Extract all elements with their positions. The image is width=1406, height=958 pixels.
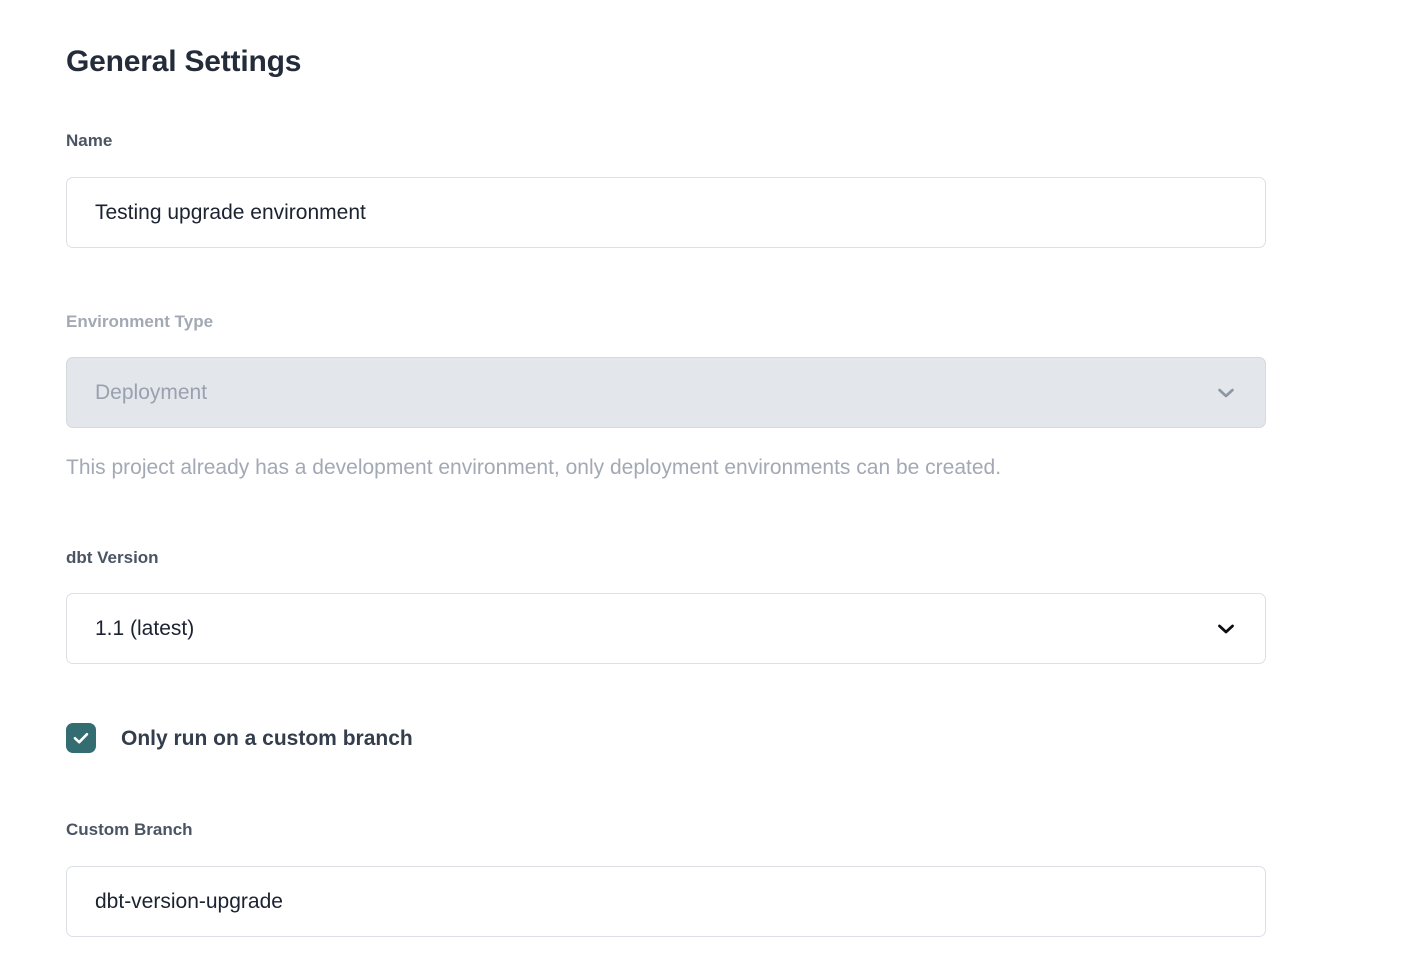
environment-type-select[interactable]: Deployment — [66, 357, 1266, 428]
chevron-down-icon — [1215, 382, 1237, 404]
name-input[interactable] — [66, 177, 1266, 248]
dbt-version-value: 1.1 (latest) — [95, 618, 1215, 639]
dbt-version-select[interactable]: 1.1 (latest) — [66, 593, 1266, 664]
custom-branch-label: Custom Branch — [66, 820, 193, 840]
custom-branch-toggle-row[interactable]: Only run on a custom branch — [66, 723, 413, 753]
environment-type-helper-text: This project already has a development e… — [66, 455, 1001, 480]
chevron-down-icon — [1215, 618, 1237, 640]
page-title: General Settings — [66, 44, 301, 80]
custom-branch-checkbox[interactable] — [66, 723, 96, 753]
environment-type-label: Environment Type — [66, 312, 213, 332]
custom-branch-input[interactable] — [66, 866, 1266, 937]
general-settings-page: General Settings Name Environment Type D… — [0, 0, 1406, 958]
check-icon — [71, 728, 91, 748]
name-label: Name — [66, 131, 112, 151]
custom-branch-toggle-label: Only run on a custom branch — [121, 728, 413, 749]
environment-type-value: Deployment — [95, 382, 1215, 403]
dbt-version-label: dbt Version — [66, 548, 159, 568]
